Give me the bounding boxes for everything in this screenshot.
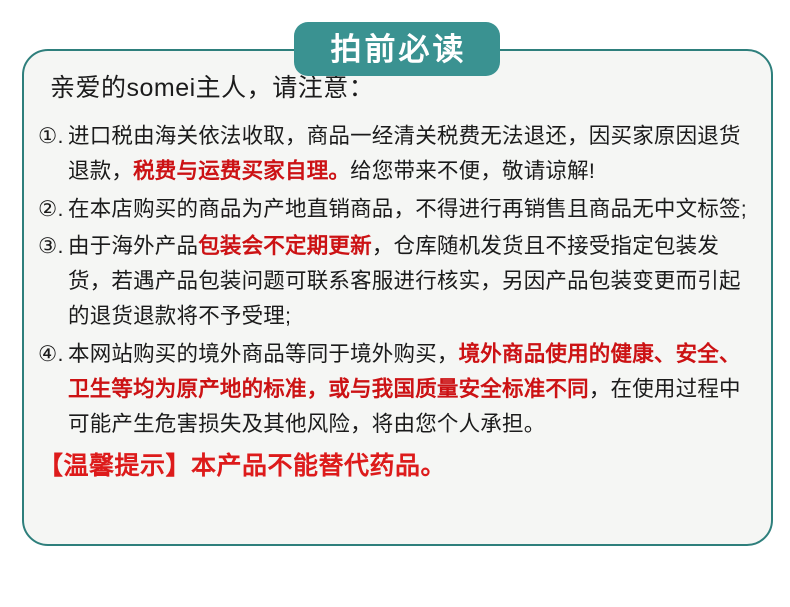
title-badge-label: 拍前必读 (328, 34, 467, 65)
notice-text: 由于海外产品 (68, 234, 198, 258)
notice-list: ①.进口税由海关依法收取，商品一经清关税费无法退还，因买家原因退货退款，税费与运… (36, 119, 761, 441)
notice-text: 本网站购买的境外商品等同于境外购买， (68, 342, 459, 366)
notice-body: 亲爱的somei主人，请注意： ①.进口税由海关依法收取，商品一经清关税费无法退… (36, 73, 761, 483)
notice-item: ③.由于海外产品包装会不定期更新，仓库随机发货且不接受指定包装发货，若遇产品包装… (36, 229, 761, 333)
greeting-line: 亲爱的somei主人，请注意： (50, 73, 761, 103)
notice-text-emphasis: 税费与运费买家自理。 (133, 159, 350, 183)
notice-text: 在本店购买的商品为产地直销商品，不得进行再销售且商品无中文标签; (68, 197, 747, 221)
title-badge: 拍前必读 (294, 22, 500, 76)
notice-item-marker: ④. (38, 337, 64, 372)
notice-item: ④.本网站购买的境外商品等同于境外购买，境外商品使用的健康、安全、卫生等均为原产… (36, 337, 761, 441)
notice-item-marker: ③. (38, 229, 64, 264)
notice-item: ①.进口税由海关依法收取，商品一经清关税费无法退还，因买家原因退货退款，税费与运… (36, 119, 761, 189)
notice-text-emphasis: 包装会不定期更新 (198, 234, 372, 258)
notice-text: 给您带来不便，敬请谅解! (350, 159, 595, 183)
notice-item-marker: ②. (38, 192, 64, 227)
notice-item: ②.在本店购买的商品为产地直销商品，不得进行再销售且商品无中文标签; (36, 192, 761, 227)
warm-tip-line: 【温馨提示】本产品不能替代药品。 (38, 450, 761, 483)
notice-panel: 亲爱的somei主人，请注意： ①.进口税由海关依法收取，商品一经清关税费无法退… (22, 49, 773, 546)
notice-item-marker: ①. (38, 119, 64, 154)
